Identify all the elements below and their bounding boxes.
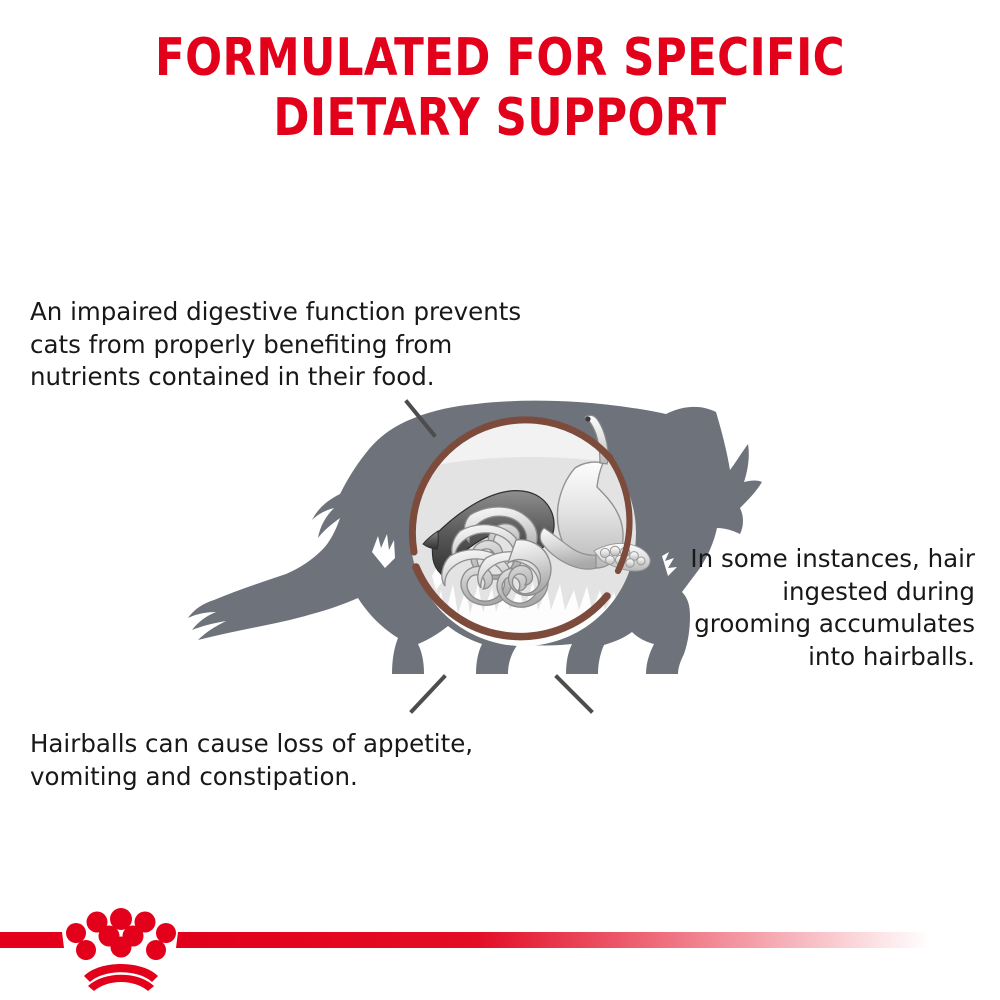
brand-footer xyxy=(0,900,1000,1000)
callout-hairball-effects: Hairballs can cause loss of appetite, vo… xyxy=(30,728,550,793)
cat-digestive-illustration xyxy=(0,0,1000,1000)
callout-hairball-formation: In some instances, hair ingested during … xyxy=(660,543,975,673)
brand-bar-left xyxy=(0,932,64,948)
brand-bar-right xyxy=(176,932,930,948)
royal-canin-crown-logo xyxy=(66,908,176,991)
oesophagus-tip xyxy=(585,416,590,421)
infographic-page: FORMULATED FOR SPECIFIC DIETARY SUPPORT xyxy=(0,0,1000,1000)
callout-digestive-function: An impaired digestive function prevents … xyxy=(30,296,530,394)
